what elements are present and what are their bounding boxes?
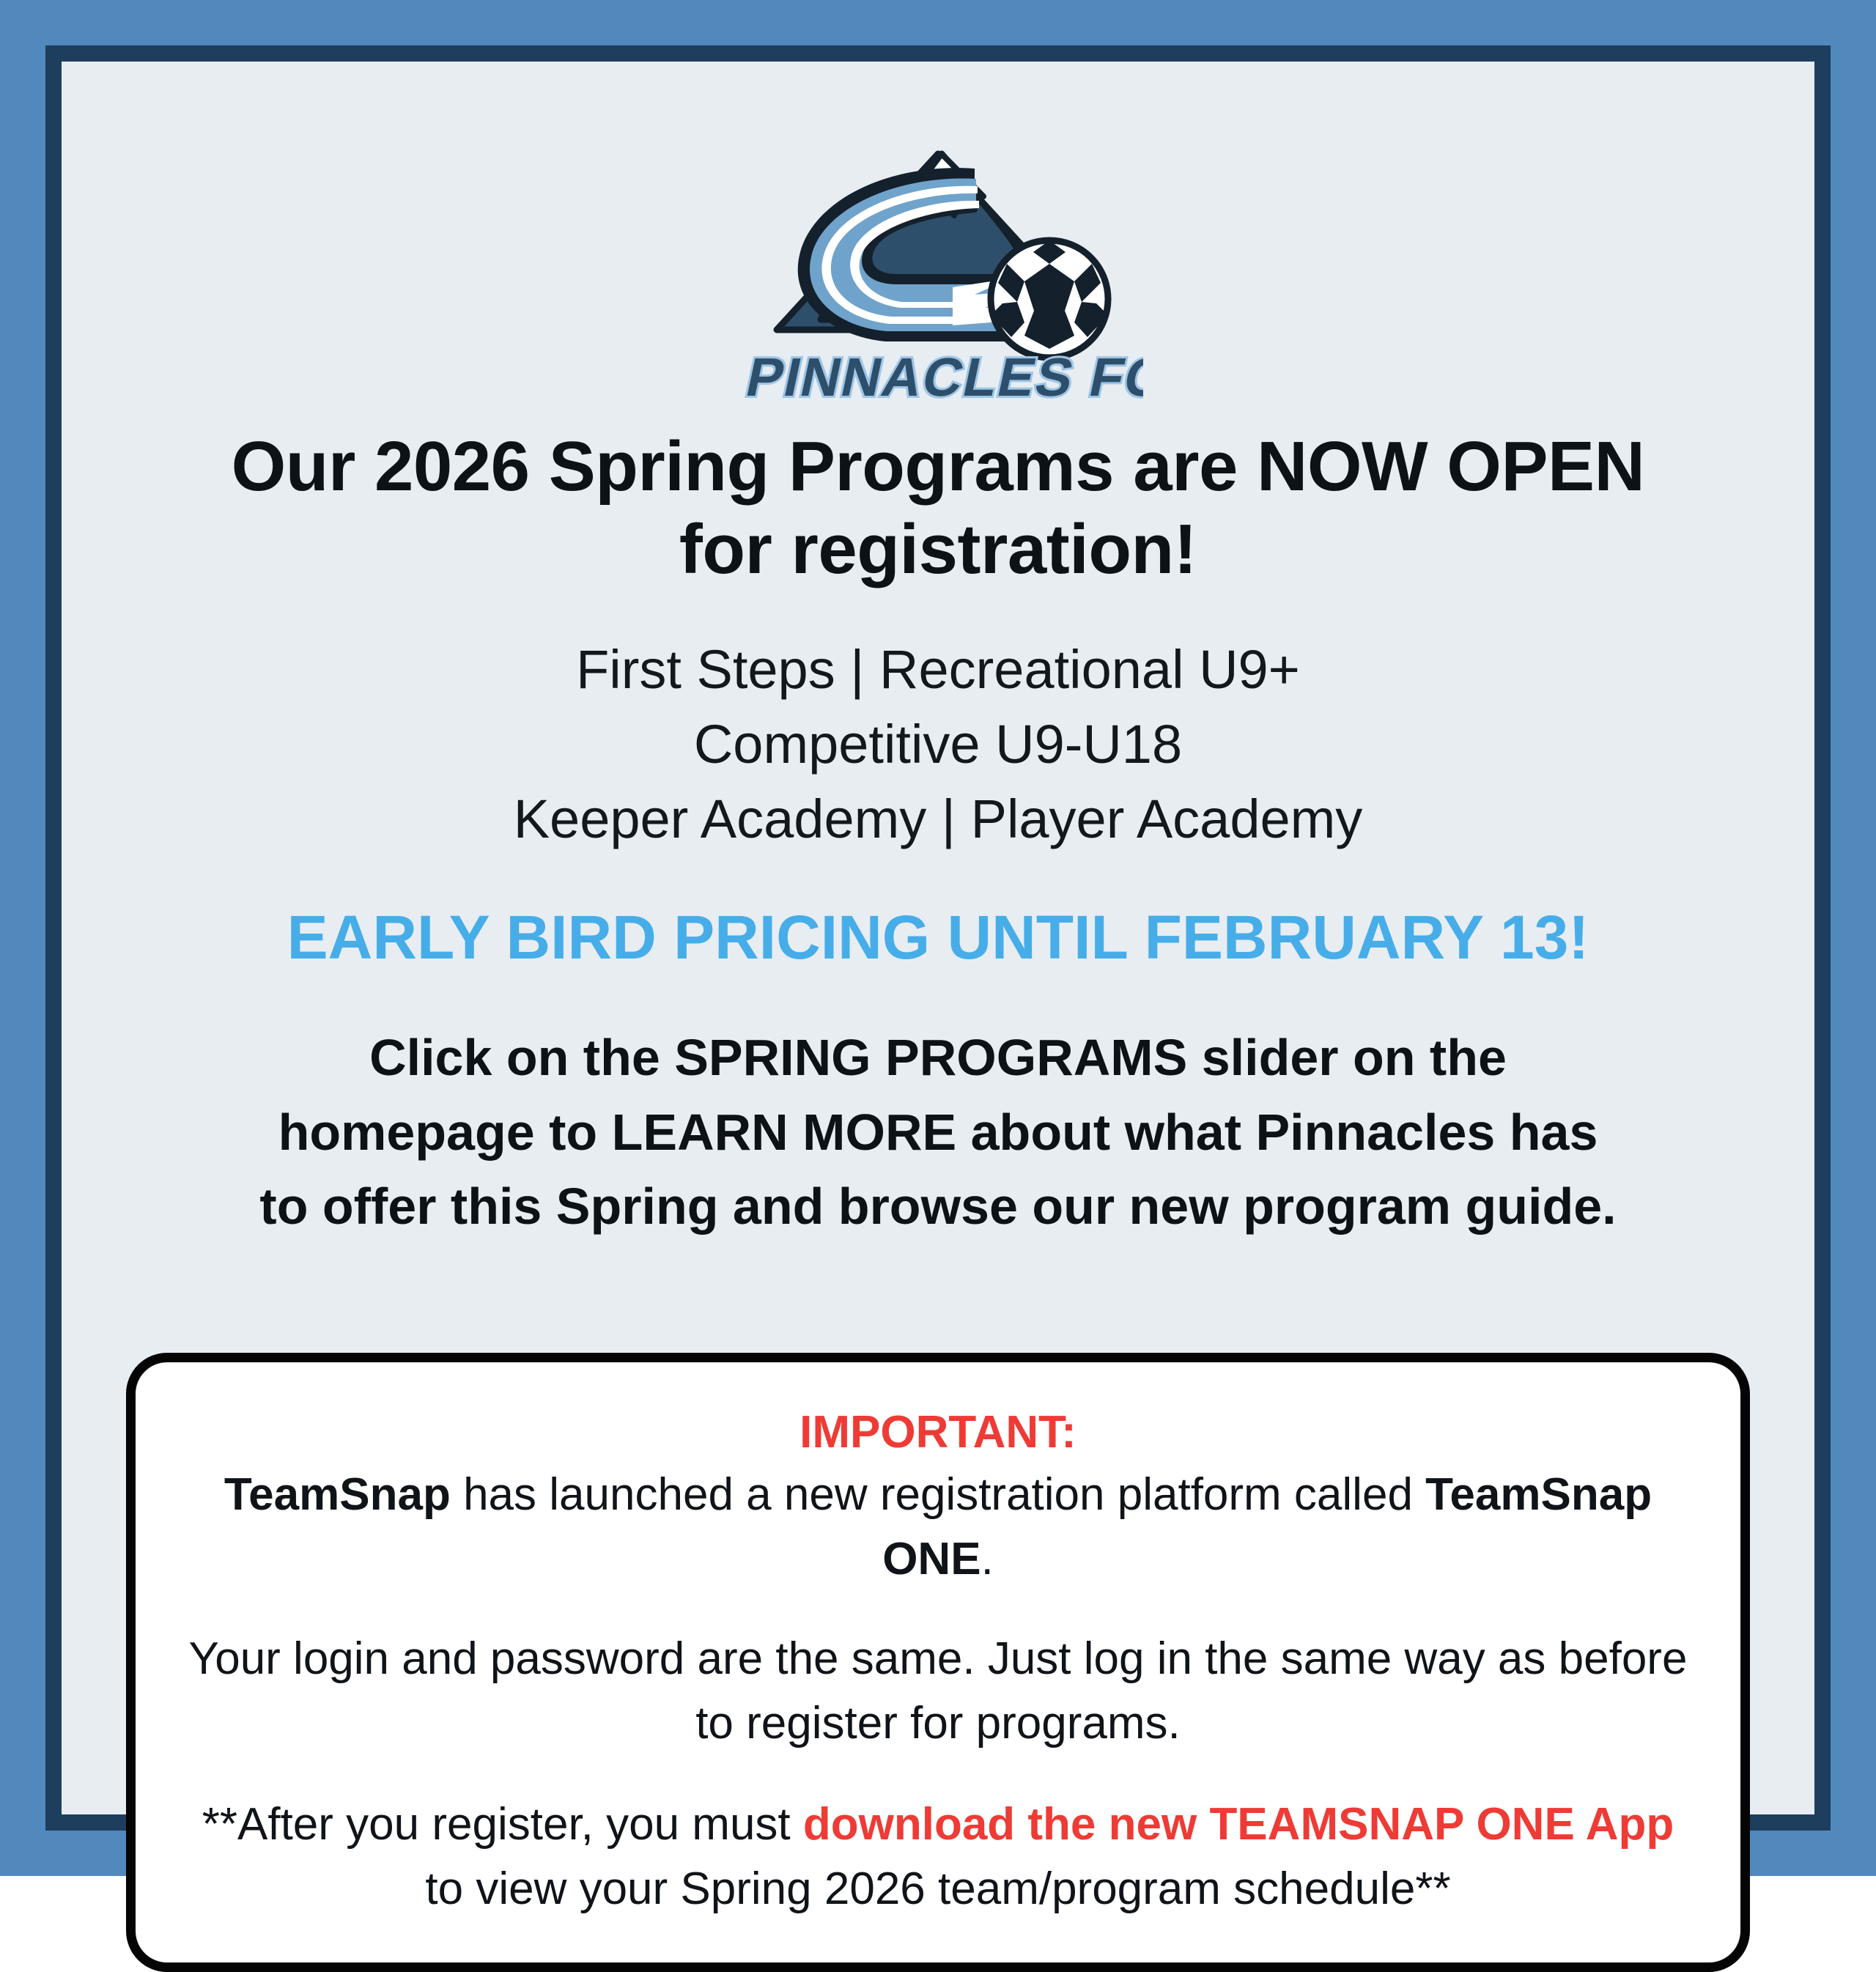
program-line-3: Keeper Academy | Player Academy	[514, 782, 1363, 857]
program-line-2: Competitive U9-U18	[514, 707, 1363, 782]
teamsnap-announcement: TeamSnap has launched a new registration…	[178, 1463, 1698, 1592]
early-bird-banner: EARLY BIRD PRICING UNTIL FEBRUARY 13!	[287, 902, 1589, 973]
teamsnap-brand: TeamSnap	[224, 1469, 451, 1520]
teamsnap-announcement-period: .	[981, 1534, 994, 1584]
poster-canvas: PINNACLES FC Our 2026 Spring Programs ar…	[62, 62, 1814, 1814]
navy-frame-border: PINNACLES FC Our 2026 Spring Programs ar…	[45, 45, 1831, 1831]
important-label: IMPORTANT:	[178, 1403, 1698, 1463]
instruction-paragraph: Click on the SPRING PROGRAMS slider on t…	[249, 1021, 1627, 1244]
app-download-part2: to view your Spring 2026 team/program sc…	[425, 1864, 1450, 1914]
pinnacles-fc-logo: PINNACLES FC	[733, 116, 1143, 409]
program-line-1: First Steps | Recreational U9+	[514, 632, 1363, 707]
app-download-paragraph: **After you register, you must download …	[178, 1792, 1698, 1921]
important-callout-box: IMPORTANT: TeamSnap has launched a new r…	[126, 1353, 1750, 1972]
login-info-paragraph: Your login and password are the same. Ju…	[178, 1627, 1698, 1756]
program-list: First Steps | Recreational U9+ Competiti…	[514, 632, 1363, 857]
svg-text:PINNACLES FC: PINNACLES FC	[741, 347, 1143, 407]
teamsnap-announcement-middle: has launched a new registration platform…	[451, 1469, 1425, 1520]
soccer-ball-icon	[991, 240, 1108, 358]
logo-wordmark: PINNACLES FC	[741, 347, 1143, 407]
poster-root: PINNACLES FC Our 2026 Spring Programs ar…	[0, 0, 1876, 1876]
app-download-highlight: download the new TEAMSNAP ONE App	[803, 1799, 1674, 1850]
app-download-part1: **After you register, you must	[202, 1799, 803, 1850]
page-title: Our 2026 Spring Programs are NOW OPEN fo…	[220, 425, 1656, 591]
